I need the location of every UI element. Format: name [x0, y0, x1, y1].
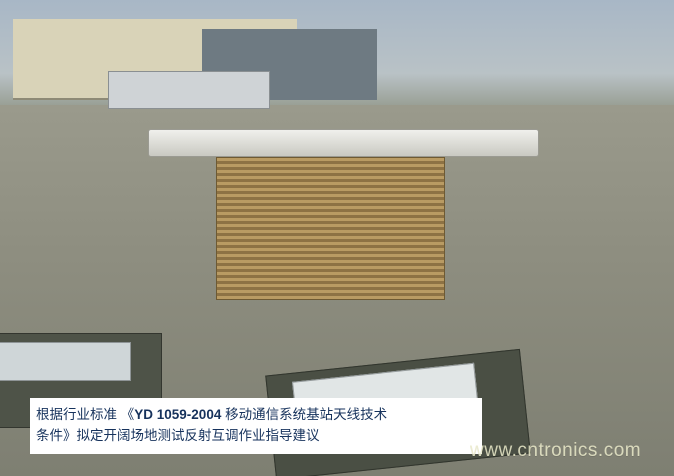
caption-standard-code: YD 1059-2004 — [134, 407, 221, 422]
caption-line-1: 根据行业标准 《YD 1059-2004 移动通信系统基站天线技术 — [36, 404, 478, 425]
slide-caption: 根据行业标准 《YD 1059-2004 移动通信系统基站天线技术 条件》拟定开… — [30, 398, 482, 454]
caption-line1-pre: 根据行业标准 《 — [36, 407, 134, 422]
photo-truck — [108, 71, 142, 109]
photo-ground — [0, 105, 142, 228]
slide-root: 典型应用-开阔场地测试基站天线 开阔场地测试 环境上行扫频 互调仪残余 互调测试… — [0, 0, 674, 476]
caption-line-2: 条件》拟定开阔场地测试反射互调作业指导建议 — [36, 425, 478, 446]
field-test-photo — [0, 0, 142, 228]
caption-line1-post: 移动通信系统基站天线技术 — [221, 407, 387, 422]
